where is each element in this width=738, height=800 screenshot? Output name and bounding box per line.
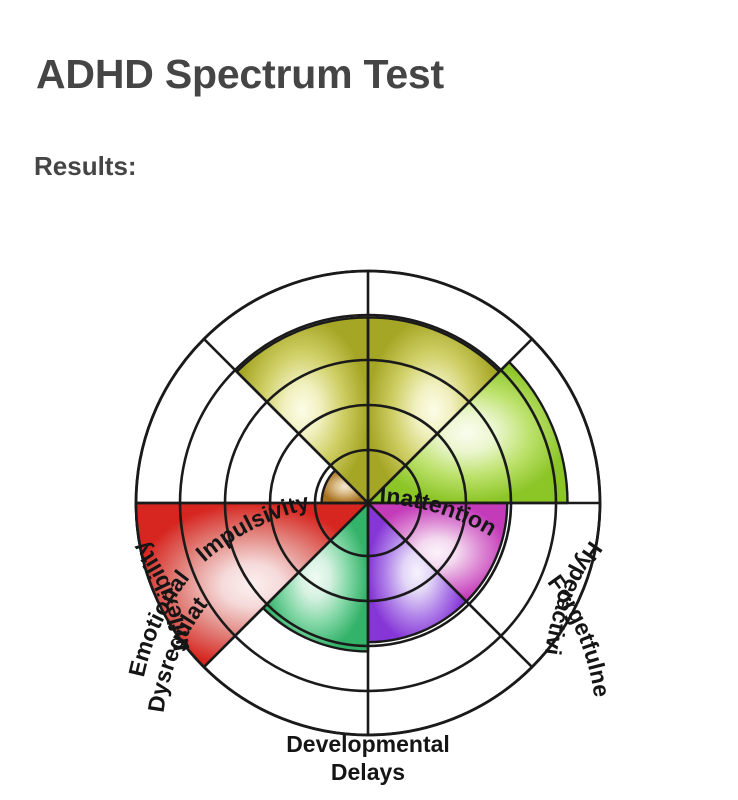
page-root: ADHD Spectrum Test Results: [0,0,738,800]
axis-label-developmental-delays-line1: Developmental [286,731,450,757]
results-label: Results: [34,152,137,181]
axis-label-developmental-delays-line2: Delays [331,759,405,785]
radar-chart-container: Inattention Forgetfulness Hyperactivity … [0,222,738,800]
page-title: ADHD Spectrum Test [36,52,444,97]
adhd-spectrum-radar-chart: Inattention Forgetfulness Hyperactivity … [0,222,738,800]
